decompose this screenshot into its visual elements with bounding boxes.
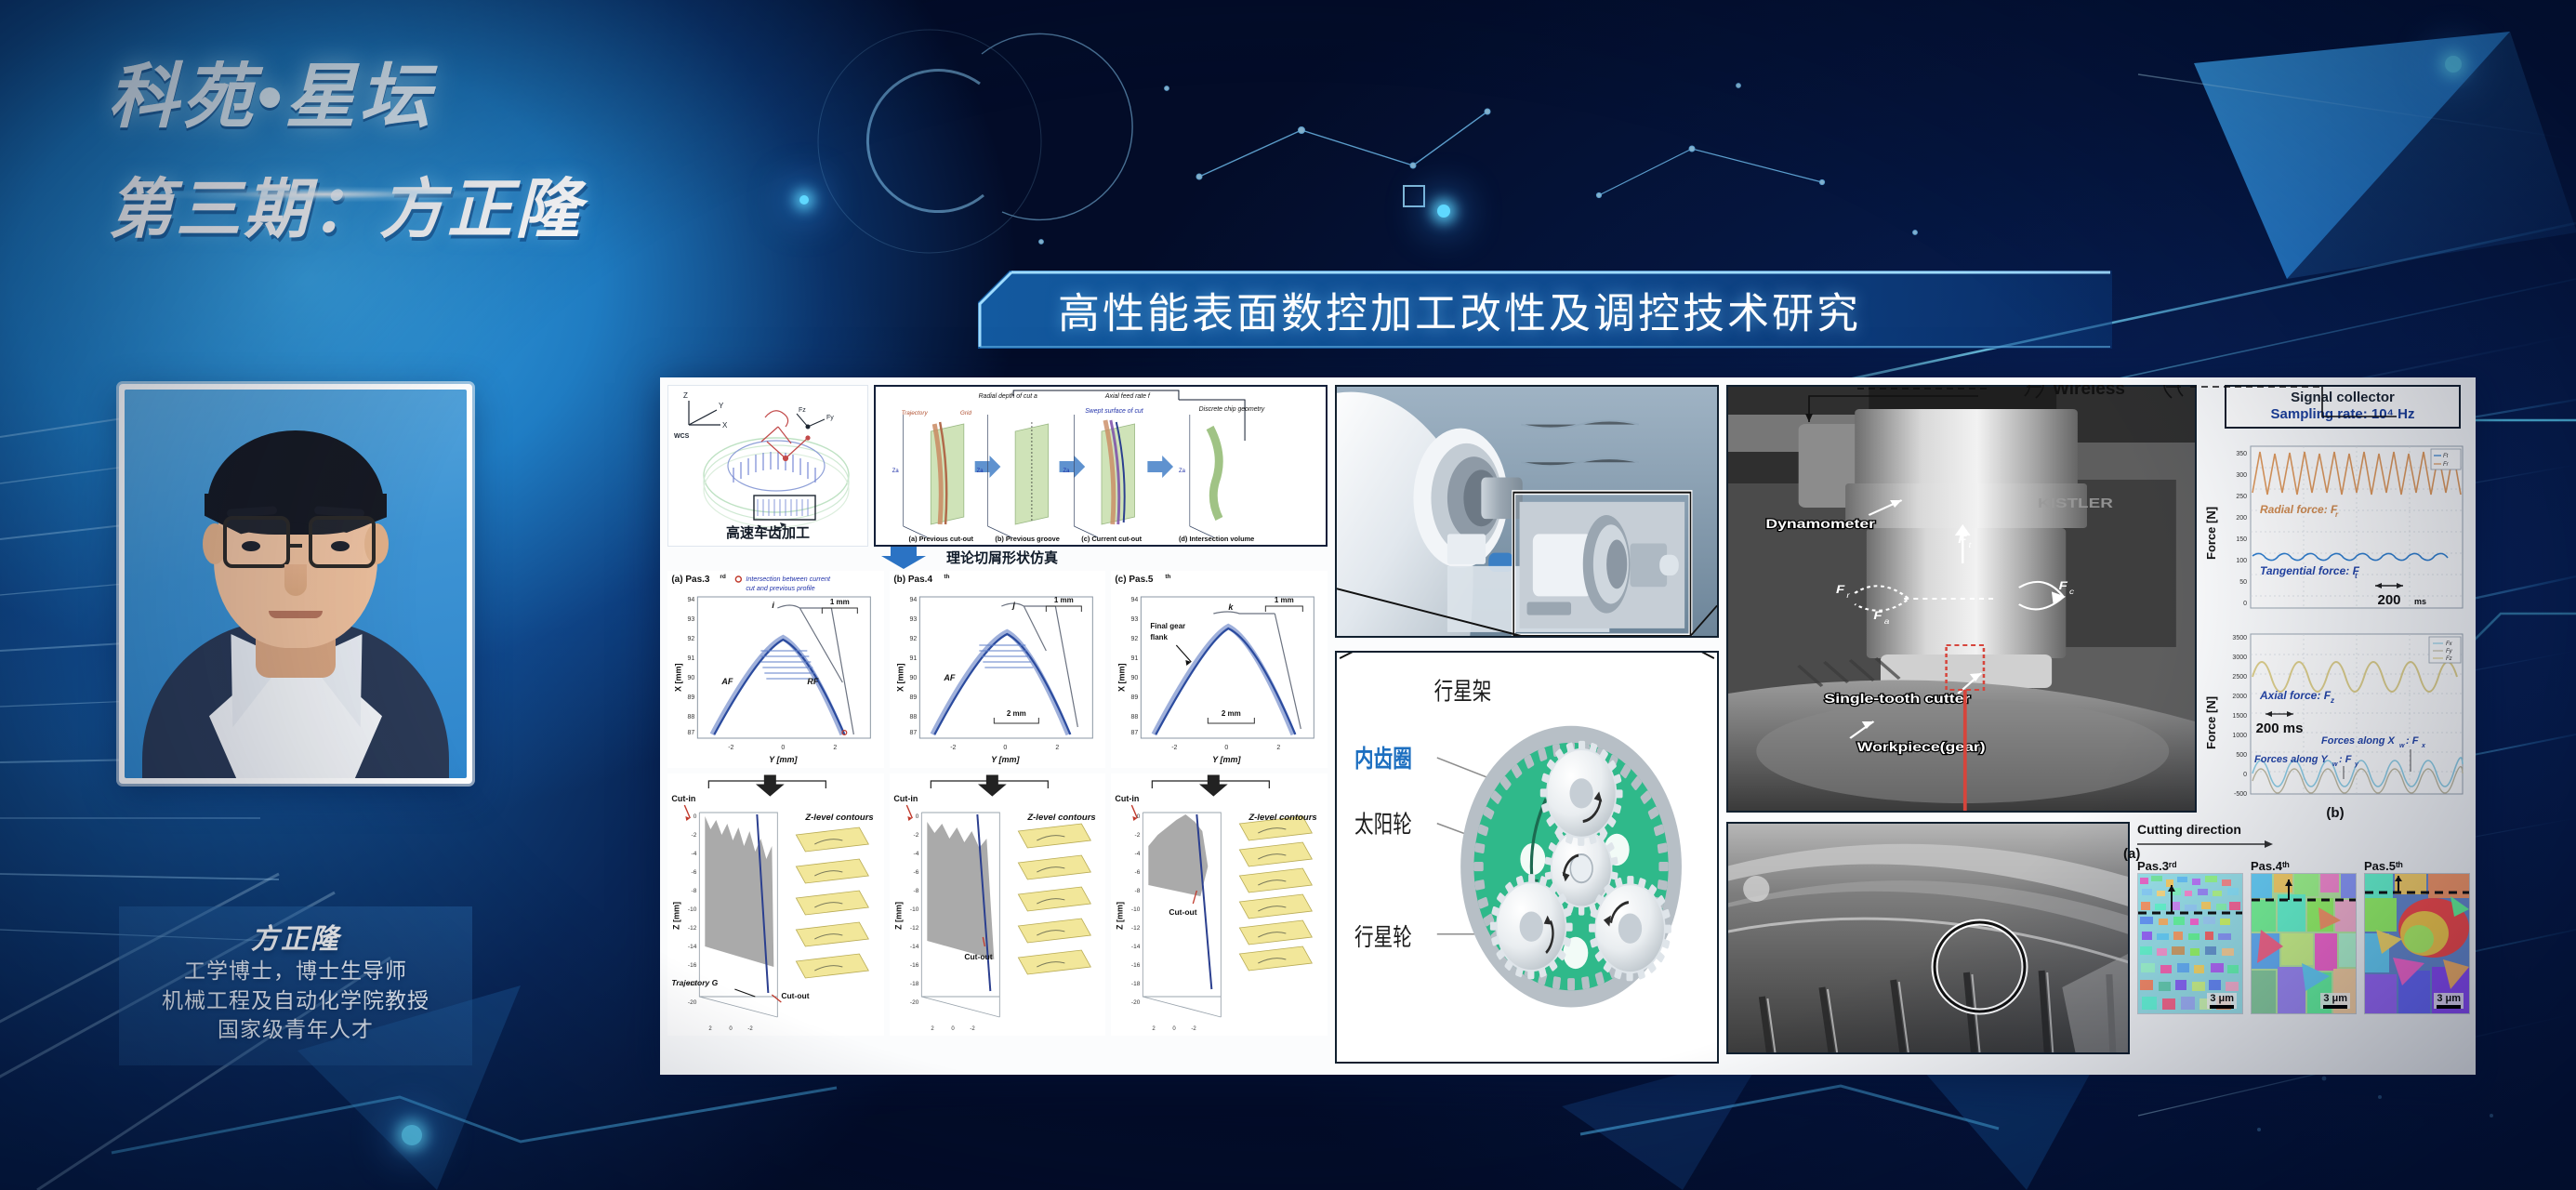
- svg-text:-10: -10: [1131, 906, 1141, 913]
- svg-text:94: 94: [1131, 597, 1139, 603]
- svg-text:0: 0: [694, 813, 697, 820]
- svg-text:(a) Pas.3: (a) Pas.3: [671, 575, 710, 585]
- svg-text:Radial depth of cut a: Radial depth of cut a: [979, 393, 1037, 400]
- svg-text:90: 90: [909, 675, 917, 681]
- svg-text:Radial force: F: Radial force: F: [2260, 503, 2338, 516]
- svg-text:2: 2: [1153, 1026, 1156, 1032]
- svg-text:3000: 3000: [2232, 654, 2247, 661]
- svg-text:-14: -14: [1131, 944, 1141, 950]
- svg-text:th: th: [944, 574, 949, 580]
- signal-collector-rate: Sampling rate: 10⁴ Hz: [2226, 406, 2459, 423]
- svg-text:92: 92: [909, 636, 917, 642]
- svg-text:(a) Previous cut-out: (a) Previous cut-out: [909, 535, 974, 543]
- svg-text:: F: : F: [2406, 735, 2419, 747]
- svg-text:Discrete chip geometry: Discrete chip geometry: [1199, 406, 1265, 413]
- glow-dot-center: [1437, 205, 1450, 218]
- svg-text:-4: -4: [913, 851, 918, 857]
- svg-text:flank: flank: [1151, 633, 1169, 641]
- svg-text:-2: -2: [913, 832, 918, 839]
- svg-text:行星轮: 行星轮: [1354, 924, 1412, 951]
- svg-text:0: 0: [781, 745, 785, 751]
- profile-plot-c: (c) Pas.5 th 949392 919089 8887 X [mm] -…: [1111, 571, 1328, 768]
- svg-text:-18: -18: [1131, 981, 1141, 987]
- svg-text:-4: -4: [1135, 851, 1141, 857]
- svg-text:Swept surface of cut: Swept surface of cut: [1085, 408, 1144, 415]
- svg-text:ms: ms: [2414, 597, 2426, 606]
- ebsd-scalebar-2: 3 μm: [2320, 993, 2350, 1009]
- svg-text:150: 150: [2236, 536, 2247, 543]
- svg-text:88: 88: [1131, 714, 1139, 721]
- svg-text:(c) Pas.5: (c) Pas.5: [1116, 575, 1155, 585]
- svg-text:93: 93: [688, 616, 695, 623]
- ebsd-map-pass5: 3 μm: [2364, 873, 2470, 1014]
- svg-text:Tangential force: F: Tangential force: F: [2260, 564, 2360, 577]
- machined-gear-photo: [1726, 822, 2130, 1054]
- svg-text:: F: : F: [2339, 754, 2352, 765]
- svg-text:rd: rd: [720, 574, 726, 580]
- svg-text:93: 93: [909, 616, 917, 623]
- svg-text:91: 91: [1131, 655, 1139, 662]
- gear-turning-schematic: Z Y X WCS: [667, 385, 868, 547]
- svg-text:1 mm: 1 mm: [1275, 596, 1294, 604]
- svg-text:100: 100: [2236, 558, 2247, 564]
- ebsd-caption-2: Pas.4ᵗʰ: [2251, 859, 2355, 873]
- chip-sim-caption: 理论切屑形状仿真: [946, 548, 1058, 567]
- svg-text:Force [N]: Force [N]: [2204, 696, 2218, 749]
- svg-text:-16: -16: [1131, 962, 1141, 969]
- svg-text:87: 87: [1131, 730, 1139, 736]
- cutting-direction-arrow: [2137, 840, 2277, 849]
- svg-text:F: F: [1836, 583, 1845, 595]
- svg-text:F: F: [2059, 579, 2068, 591]
- svg-text:-2: -2: [970, 1026, 975, 1032]
- svg-text:Za: Za: [1063, 469, 1071, 474]
- svg-text:0: 0: [951, 1026, 955, 1032]
- svg-text:2 mm: 2 mm: [1222, 709, 1241, 718]
- svg-text:Z [mm]: Z [mm]: [1116, 902, 1125, 930]
- figure-column-experiment: F t F r F a F c KISTLER Dynamometer: [1726, 385, 2468, 1067]
- svg-text:-12: -12: [910, 925, 919, 932]
- brand-block: 科苑•星坛 第三期：方正隆: [108, 58, 703, 251]
- signal-collector-box: Signal collector Sampling rate: 10⁴ Hz: [2225, 385, 2461, 429]
- svg-text:200: 200: [2236, 515, 2247, 522]
- figure-column-application: 行星架 内齿圈 太阳轮 行星轮: [1335, 385, 1719, 1067]
- svg-text:94: 94: [909, 597, 917, 603]
- svg-text:-16: -16: [910, 962, 919, 969]
- svg-text:RF: RF: [807, 677, 818, 686]
- svg-text:z: z: [2330, 696, 2334, 705]
- svg-text:87: 87: [909, 730, 917, 736]
- svg-text:88: 88: [909, 714, 917, 721]
- svg-text:c: c: [2069, 588, 2075, 596]
- svg-text:2 mm: 2 mm: [1007, 709, 1026, 718]
- svg-text:87: 87: [688, 730, 695, 736]
- svg-text:91: 91: [909, 655, 917, 662]
- svg-text:-8: -8: [1135, 888, 1141, 894]
- svg-text:-8: -8: [913, 888, 918, 894]
- svg-text:-6: -6: [913, 869, 918, 876]
- svg-text:350: 350: [2236, 451, 2247, 457]
- svg-text:1 mm: 1 mm: [830, 598, 850, 606]
- chip-simulation-panel: Radial depth of cut a Axial feed rate f …: [874, 385, 1328, 547]
- svg-text:500: 500: [2236, 752, 2247, 759]
- svg-text:2: 2: [1277, 745, 1281, 751]
- svg-text:-10: -10: [688, 906, 697, 913]
- svg-text:WCS: WCS: [674, 433, 690, 440]
- figure-column-simulation: Z Y X WCS: [667, 385, 1328, 1067]
- svg-text:Fz: Fz: [799, 407, 806, 414]
- ebsd-caption-1: Pas.3ʳᵈ: [2137, 859, 2241, 873]
- svg-text:0: 0: [1225, 745, 1229, 751]
- experiment-photo-caption: (a): [2123, 846, 2140, 862]
- svg-text:内齿圈: 内齿圈: [1354, 746, 1412, 773]
- svg-text:1500: 1500: [2232, 713, 2247, 720]
- svg-text:X [mm]: X [mm]: [673, 663, 682, 692]
- svg-text:Z [mm]: Z [mm]: [671, 902, 680, 930]
- svg-text:Za: Za: [1179, 469, 1186, 474]
- presentation-slide: 科苑•星坛 第三期：方正隆 高性能表面数控加工改性及调控技术研究: [0, 0, 2576, 1190]
- force-chart-caption: (b): [2202, 805, 2468, 821]
- svg-text:Y: Y: [719, 402, 724, 410]
- svg-text:0: 0: [2243, 601, 2247, 607]
- profile-plot-row: (a) Pas.3 rd Intersection between curren…: [667, 571, 1328, 768]
- svg-text:i: i: [772, 601, 774, 610]
- svg-text:-2: -2: [950, 745, 956, 751]
- svg-text:89: 89: [688, 694, 695, 701]
- svg-text:X [mm]: X [mm]: [895, 663, 905, 692]
- ebsd-map-pass4: 3 μm: [2251, 873, 2357, 1014]
- speaker-photo: [119, 384, 472, 784]
- glow-dot-left: [402, 1125, 422, 1145]
- svg-text:Trajectory G: Trajectory G: [671, 978, 718, 987]
- svg-text:Axial feed rate f: Axial feed rate f: [1104, 393, 1151, 400]
- ebsd-scalebar-1: 3 μm: [2207, 993, 2237, 1009]
- svg-text:Force [N]: Force [N]: [2204, 507, 2218, 560]
- force-chart-bottom: Force [N] 350030002500 200015001000 5000…: [2202, 625, 2468, 807]
- topic-banner: 高性能表面数控加工改性及调控技术研究: [978, 271, 2112, 349]
- svg-text:-2: -2: [1192, 1026, 1197, 1032]
- svg-text:-14: -14: [688, 944, 697, 950]
- svg-text:cut and previous profile: cut and previous profile: [746, 584, 814, 592]
- svg-text:-10: -10: [910, 906, 919, 913]
- research-figure-board: Z Y X WCS: [660, 377, 2476, 1075]
- machining-experiment-photo: F t F r F a F c KISTLER Dynamometer: [1726, 385, 2197, 813]
- svg-text:AF: AF: [943, 673, 955, 682]
- svg-text:太阳轮: 太阳轮: [1354, 811, 1412, 838]
- signal-collector-title: Signal collector: [2226, 390, 2459, 406]
- svg-text:200: 200: [2377, 592, 2400, 608]
- svg-text:Dynamometer: Dynamometer: [1765, 518, 1875, 532]
- svg-text:0: 0: [2243, 772, 2247, 778]
- svg-text:k: k: [1229, 602, 1235, 612]
- svg-text:Fz: Fz: [2446, 656, 2452, 662]
- svg-text:Y [mm]: Y [mm]: [769, 755, 798, 764]
- svg-text:Axial force: F: Axial force: F: [2259, 689, 2332, 702]
- ebsd-panel-group: Cutting direction Pas.3ʳᵈ: [2137, 822, 2468, 1054]
- svg-text:X: X: [722, 421, 728, 430]
- title-underglow: [110, 182, 537, 206]
- svg-text:Cut-in: Cut-in: [893, 794, 918, 803]
- svg-text:-16: -16: [688, 962, 697, 969]
- z-level-plot-2: Cut-in 0-2-4 -6-8-10 -12-14-16 -18-20 Z: [890, 773, 1106, 1036]
- svg-text:-2: -2: [1135, 832, 1141, 839]
- svg-text:-500: -500: [2234, 791, 2247, 798]
- planetary-gear-diagram: 行星架 内齿圈 太阳轮 行星轮: [1335, 651, 1719, 1064]
- svg-text:-18: -18: [910, 981, 919, 987]
- svg-text:th: th: [1166, 574, 1171, 580]
- svg-text:-2: -2: [728, 745, 733, 751]
- svg-text:a: a: [1884, 617, 1890, 626]
- svg-text:AF: AF: [720, 677, 733, 686]
- svg-text:0: 0: [1137, 813, 1141, 820]
- svg-text:94: 94: [688, 597, 695, 603]
- svg-text:Z [mm]: Z [mm]: [893, 902, 903, 930]
- svg-text:89: 89: [909, 694, 917, 701]
- svg-text:(c) Current cut-out: (c) Current cut-out: [1081, 535, 1142, 543]
- svg-text:92: 92: [1131, 636, 1139, 642]
- svg-text:92: 92: [688, 636, 695, 642]
- svg-text:Cut-out: Cut-out: [964, 952, 992, 961]
- page-title: 科苑•星坛: [108, 58, 703, 137]
- svg-text:-12: -12: [688, 925, 697, 932]
- speaker-credential-1: 工学博士，博士生导师: [119, 957, 472, 986]
- svg-text:KISTLER: KISTLER: [2038, 496, 2113, 511]
- svg-text:(d) Intersection volume: (d) Intersection volume: [1179, 535, 1254, 543]
- topic-text: 高性能表面数控加工改性及调控技术研究: [1058, 280, 1861, 340]
- svg-text:Y [mm]: Y [mm]: [1213, 755, 1242, 764]
- z-level-plot-3: Cut-in 0-2-4 -6-8-10 -12-14-16 -18-20 Z: [1111, 773, 1328, 1036]
- svg-text:Cut-in: Cut-in: [1116, 794, 1140, 803]
- svg-text:-20: -20: [1131, 999, 1141, 1006]
- svg-text:1 mm: 1 mm: [1054, 596, 1074, 604]
- svg-text:Cut-out: Cut-out: [781, 991, 809, 1000]
- profile-plot-a: (a) Pas.3 rd Intersection between curren…: [667, 571, 884, 768]
- svg-text:-2: -2: [747, 1026, 753, 1032]
- svg-text:Cut-in: Cut-in: [671, 794, 695, 803]
- svg-text:-20: -20: [910, 999, 919, 1006]
- profile-plot-b: (b) Pas.4 th 949392 919089 8887 X [mm] -…: [890, 571, 1106, 768]
- ebsd-caption-3: Pas.5ᵗʰ: [2364, 859, 2468, 873]
- svg-text:-14: -14: [910, 944, 919, 950]
- svg-text:F: F: [1873, 609, 1882, 621]
- svg-text:2000: 2000: [2232, 694, 2247, 700]
- svg-text:0: 0: [1173, 1026, 1177, 1032]
- svg-text:Y [mm]: Y [mm]: [991, 755, 1020, 764]
- speaker-info-card: 方正隆 工学博士，博士生导师 机械工程及自动化学院教授 国家级青年人才: [119, 906, 472, 1065]
- svg-text:Forces along Y: Forces along Y: [2254, 754, 2329, 765]
- svg-text:90: 90: [1131, 675, 1139, 681]
- glow-dot-mid: [799, 195, 809, 205]
- svg-text:Fx: Fx: [2446, 641, 2453, 647]
- svg-text:2: 2: [931, 1026, 934, 1032]
- svg-text:-6: -6: [692, 869, 697, 876]
- glow-dot-right: [2445, 56, 2462, 73]
- svg-text:3500: 3500: [2232, 635, 2247, 641]
- svg-text:91: 91: [688, 655, 695, 662]
- svg-text:1000: 1000: [2232, 733, 2247, 739]
- z-level-plot-row: Cut-in 0-2-4 -6-8-10 -12-14-16 -18: [667, 773, 1328, 1036]
- svg-text:0: 0: [1003, 745, 1007, 751]
- svg-text:-2: -2: [1172, 745, 1178, 751]
- svg-text:Fy: Fy: [2446, 649, 2453, 654]
- svg-text:w: w: [2332, 761, 2338, 768]
- svg-text:Trajectory: Trajectory: [902, 410, 929, 416]
- svg-text:Z-level contours: Z-level contours: [1026, 813, 1095, 823]
- force-chart-top: Force [N] 350300250 200150100 500: [2202, 437, 2468, 619]
- svg-text:Fy: Fy: [826, 415, 834, 421]
- svg-text:0: 0: [915, 813, 918, 820]
- svg-text:t: t: [2355, 572, 2358, 580]
- svg-text:(b) Pas.4: (b) Pas.4: [893, 575, 932, 585]
- svg-text:Final gear: Final gear: [1151, 622, 1186, 630]
- svg-text:Z-level contours: Z-level contours: [1248, 813, 1317, 823]
- svg-text:90: 90: [688, 675, 695, 681]
- svg-text:(b) Previous groove: (b) Previous groove: [995, 535, 1059, 543]
- svg-text:2: 2: [1055, 745, 1059, 751]
- svg-text:j: j: [1011, 601, 1015, 610]
- svg-text:50: 50: [2239, 579, 2247, 586]
- force-chart-column: Signal collector Sampling rate: 10⁴ Hz F…: [2202, 385, 2468, 813]
- svg-text:2500: 2500: [2232, 674, 2247, 681]
- wind-turbine-gearbox-photo: [1335, 385, 1719, 638]
- speaker-credential-3: 国家级青年人才: [119, 1015, 472, 1045]
- svg-text:93: 93: [1131, 616, 1139, 623]
- svg-text:300: 300: [2236, 472, 2247, 479]
- svg-text:0: 0: [729, 1026, 733, 1032]
- svg-text:Forces along X: Forces along X: [2321, 735, 2396, 747]
- svg-text:2: 2: [833, 745, 837, 751]
- svg-text:w: w: [2399, 743, 2405, 749]
- svg-text:-6: -6: [1135, 869, 1141, 876]
- speaker-name: 方正隆: [119, 916, 472, 957]
- svg-text:Cut-out: Cut-out: [1169, 907, 1197, 917]
- svg-text:Ft: Ft: [2443, 454, 2449, 459]
- svg-text:200 ms: 200 ms: [2256, 721, 2304, 736]
- svg-text:89: 89: [1131, 694, 1139, 701]
- svg-text:Za: Za: [892, 469, 900, 474]
- ebsd-map-pass3: 3 μm: [2137, 873, 2243, 1014]
- speaker-credential-2: 机械工程及自动化学院教授: [119, 986, 472, 1016]
- svg-text:Z: Z: [683, 391, 688, 400]
- svg-text:Grid: Grid: [960, 410, 972, 416]
- svg-text:-2: -2: [692, 832, 697, 839]
- svg-text:-20: -20: [688, 999, 697, 1006]
- svg-text:-12: -12: [1131, 925, 1141, 932]
- svg-text:X [mm]: X [mm]: [1117, 663, 1127, 692]
- z-level-plot-1: Cut-in 0-2-4 -6-8-10 -12-14-16 -18: [667, 773, 884, 1036]
- svg-text:250: 250: [2236, 494, 2247, 500]
- svg-text:-4: -4: [692, 851, 697, 857]
- svg-text:88: 88: [688, 714, 695, 721]
- svg-text:Za: Za: [977, 469, 984, 474]
- ebsd-scalebar-3: 3 μm: [2434, 993, 2464, 1009]
- cutting-direction-label: Cutting direction: [2137, 822, 2468, 837]
- svg-text:-8: -8: [692, 888, 697, 894]
- svg-text:Intersection between current: Intersection between current: [746, 575, 831, 583]
- svg-text:Single-tooth cutter: Single-tooth cutter: [1824, 693, 1970, 707]
- svg-text:行星架: 行星架: [1434, 678, 1492, 705]
- svg-text:Fr: Fr: [2443, 462, 2450, 468]
- svg-text:2: 2: [708, 1026, 712, 1032]
- svg-text:Z-level contours: Z-level contours: [804, 813, 873, 823]
- speaker-photo-image: [125, 390, 467, 778]
- svg-text:F: F: [1958, 533, 1967, 545]
- gear-process-caption: 高速车齿加工: [668, 522, 867, 542]
